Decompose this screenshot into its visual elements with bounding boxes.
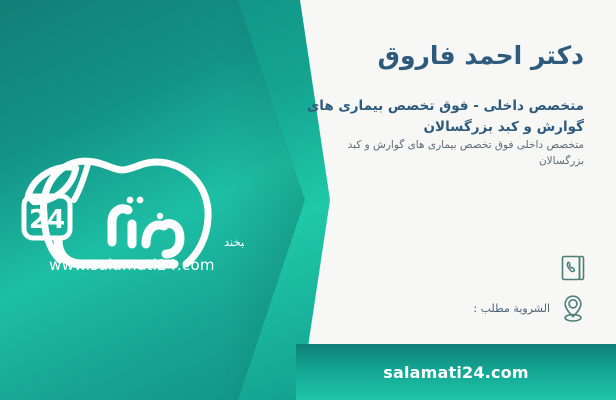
- business-card: 24 به راحتی یک لبخند www.salamati24.com …: [0, 0, 616, 400]
- logo-artwork: 24 به راحتی یک لبخند www.salamati24.com: [14, 104, 244, 284]
- doctor-specialty-primary: متخصص داخلی - فوق تخصص بیماری های گوارش …: [302, 96, 584, 138]
- contact-row-phone[interactable]: [290, 248, 590, 288]
- doctor-name: دکتر احمد فاروق: [284, 42, 584, 71]
- contact-row-address[interactable]: الشرویة مطلب :: [290, 288, 590, 328]
- footer-website[interactable]: salamati24.com: [383, 363, 529, 382]
- logo-tagline: به راحتی یک لبخند: [224, 235, 244, 250]
- logo-website: www.salamati24.com: [49, 256, 215, 274]
- brand-logo: 24 به راحتی یک لبخند www.salamati24.com: [14, 104, 244, 284]
- map-pin-icon[interactable]: [556, 290, 590, 326]
- contact-list: الشرویة مطلب :: [290, 248, 590, 328]
- contact-label-address: الشرویة مطلب :: [473, 302, 556, 315]
- phone-book-icon[interactable]: [556, 250, 590, 286]
- doctor-specialty-secondary: متخصص داخلی فوق تخصص بیماری های گوارش و …: [322, 138, 584, 170]
- badge-24-label: 24: [29, 205, 65, 235]
- footer-bar: salamati24.com: [296, 344, 616, 400]
- brand-wordmark-dots: [127, 197, 164, 220]
